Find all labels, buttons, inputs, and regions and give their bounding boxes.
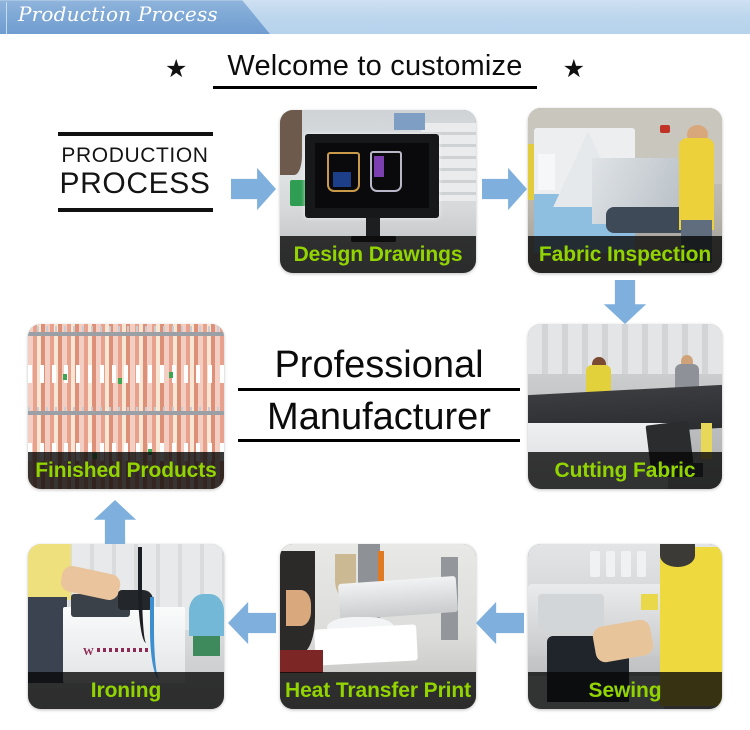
step-caption-text: Cutting Fabric xyxy=(555,459,696,483)
headline-line-professional: Professional xyxy=(238,344,520,391)
step-panel-cutting-fabric[interactable]: Cutting Fabric xyxy=(528,324,722,489)
star-icon-left: ★ xyxy=(165,57,187,82)
logo-letter: W xyxy=(83,646,94,658)
ironing-table-logo: W xyxy=(83,646,130,661)
step-caption-cutting-fabric: Cutting Fabric xyxy=(528,452,722,489)
step-caption-text: Heat Transfer Print xyxy=(285,679,471,703)
step-caption-text: Design Drawings xyxy=(294,243,463,267)
step-caption-fabric-inspection: Fabric Inspection xyxy=(528,236,722,273)
step-panel-ironing[interactable]: W Ironing xyxy=(28,544,224,709)
wordmark-line-process: PROCESS xyxy=(40,167,230,200)
welcome-row: ★ Welcome to customize ★ xyxy=(0,48,750,90)
step-caption-sewing: Sewing xyxy=(528,672,722,709)
welcome-headline: Welcome to customize xyxy=(213,50,536,89)
step-caption-text: Finished Products xyxy=(35,459,217,483)
headline-line-manufacturer: Manufacturer xyxy=(238,396,520,443)
step-panel-heat-transfer-print[interactable]: Heat Transfer Print xyxy=(280,544,476,709)
page-title: Production Process xyxy=(18,2,218,26)
wordmark-rule-bottom xyxy=(58,208,213,212)
step-panel-finished-products[interactable]: Finished Products xyxy=(28,324,224,489)
flow-arrow-up-to-finished-products xyxy=(92,500,138,544)
flow-arrow-left-to-heat-transfer-print xyxy=(476,600,524,646)
step-caption-design-drawings: Design Drawings xyxy=(280,236,476,273)
step-caption-ironing: Ironing xyxy=(28,672,224,709)
step-caption-text: Ironing xyxy=(91,679,161,703)
step-caption-heat-transfer-print: Heat Transfer Print xyxy=(280,672,476,709)
wordmark-rule-top xyxy=(58,132,213,136)
flow-arrow-left-to-ironing xyxy=(228,600,276,646)
step-panel-design-drawings[interactable]: Design Drawings xyxy=(280,110,476,273)
star-icon-right: ★ xyxy=(563,57,585,82)
header-banner: Production Process xyxy=(0,0,750,34)
step-caption-text: Sewing xyxy=(589,679,662,703)
wordmark-line-production: PRODUCTION xyxy=(40,145,230,167)
step-panel-sewing[interactable]: Sewing xyxy=(528,544,722,709)
flow-arrow-down-to-cutting-fabric xyxy=(602,280,648,324)
production-process-wordmark: PRODUCTION PROCESS xyxy=(40,132,230,212)
step-panel-fabric-inspection[interactable]: Fabric Inspection xyxy=(528,108,722,273)
step-caption-text: Fabric Inspection xyxy=(539,243,711,267)
step-caption-finished-products: Finished Products xyxy=(28,452,224,489)
flow-arrow-right-to-design xyxy=(231,166,276,212)
flow-arrow-right-to-fabric-inspection xyxy=(482,166,527,212)
center-headline: Professional Manufacturer xyxy=(238,344,520,442)
